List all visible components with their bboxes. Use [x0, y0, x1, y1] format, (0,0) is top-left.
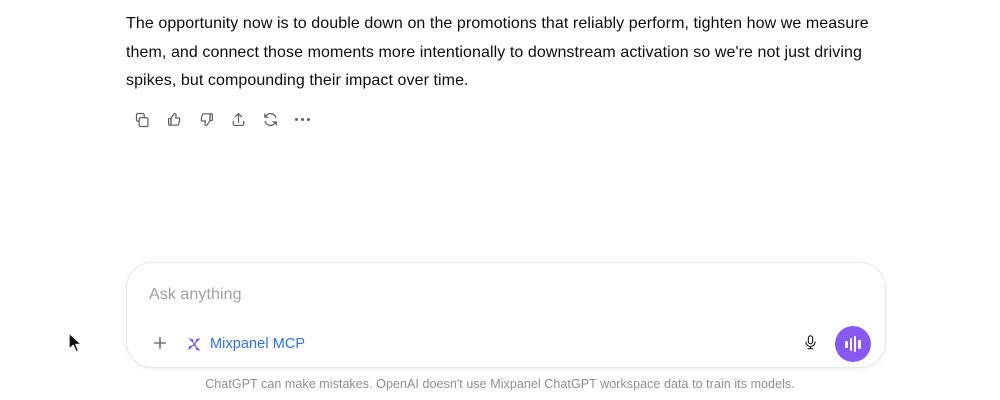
microphone-icon	[802, 334, 819, 354]
thumbs-up-icon	[166, 111, 183, 128]
add-attachment-button[interactable]	[145, 329, 175, 359]
thumbs-down-button[interactable]	[190, 105, 222, 133]
mcp-connector-chip[interactable]: Mixpanel MCP	[182, 332, 309, 356]
dictate-button[interactable]	[796, 329, 824, 359]
copy-icon	[134, 111, 151, 128]
copy-button[interactable]	[126, 105, 158, 133]
regenerate-icon	[262, 111, 279, 128]
composer-right-actions	[796, 326, 871, 362]
composer[interactable]: Mixpanel MCP	[126, 262, 886, 368]
thumbs-up-button[interactable]	[158, 105, 190, 133]
message-action-toolbar	[126, 105, 318, 133]
more-options-icon	[295, 118, 310, 121]
mcp-connector-label: Mixpanel MCP	[210, 335, 305, 353]
mouse-pointer-icon	[68, 332, 85, 356]
share-button[interactable]	[222, 105, 254, 133]
composer-input[interactable]	[149, 284, 849, 306]
plus-icon	[151, 334, 169, 355]
assistant-message: The opportunity now is to double down on…	[126, 0, 886, 96]
more-options-button[interactable]	[286, 105, 318, 133]
thumbs-down-icon	[198, 111, 215, 128]
regenerate-button[interactable]	[254, 105, 286, 133]
mixpanel-logo-icon	[186, 336, 203, 353]
assistant-message-text: The opportunity now is to double down on…	[126, 0, 884, 96]
share-icon	[230, 111, 247, 128]
composer-toolbar: Mixpanel MCP	[127, 321, 885, 367]
voice-waveform-icon	[845, 336, 861, 352]
voice-mode-button[interactable]	[835, 326, 871, 362]
footer-disclaimer: ChatGPT can make mistakes. OpenAI doesn'…	[0, 376, 1000, 393]
